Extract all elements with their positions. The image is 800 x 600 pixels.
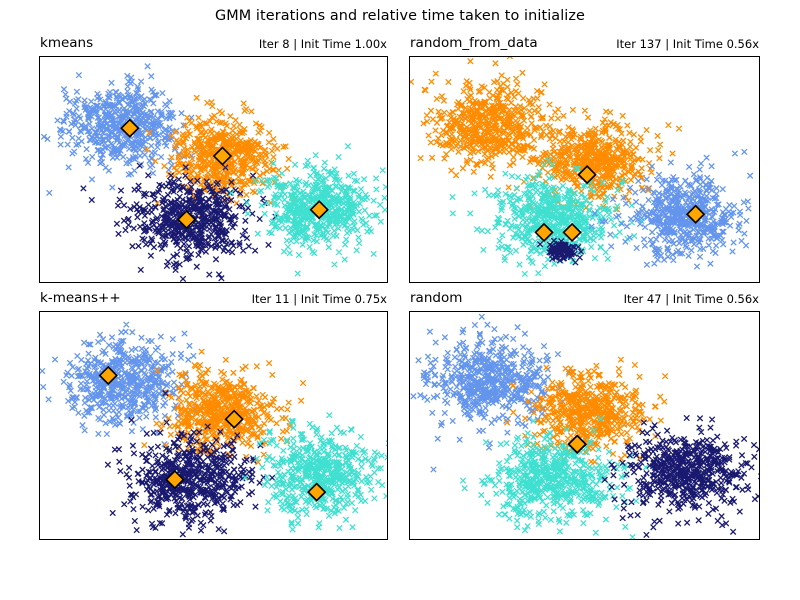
scatter-layer	[410, 57, 760, 283]
subplot-header-kmeans-plusplus: k-means++ Iter 11 | Init Time 0.75x	[39, 290, 388, 308]
subplot-title-kmeans: kmeans	[40, 35, 93, 51]
subplot-random-from-data: random_from_data Iter 137 | Init Time 0.…	[409, 56, 760, 283]
subplot-header-random-from-data: random_from_data Iter 137 | Init Time 0.…	[409, 35, 760, 53]
axes-random	[409, 311, 760, 540]
subplot-meta-kmeans-plusplus: Iter 11 | Init Time 0.75x	[252, 292, 387, 306]
axes-random-from-data	[409, 56, 760, 283]
figure-suptitle: GMM iterations and relative time taken t…	[0, 8, 800, 24]
axes-kmeans-plusplus	[39, 311, 388, 540]
subplot-title-random: random	[410, 290, 462, 306]
axes-kmeans	[39, 56, 388, 283]
scatter-layer	[410, 312, 760, 540]
subplot-random: random Iter 47 | Init Time 0.56x	[409, 311, 760, 540]
subplot-meta-random-from-data: Iter 137 | Init Time 0.56x	[616, 37, 759, 51]
scatter-layer	[40, 57, 388, 283]
subplot-kmeans: kmeans Iter 8 | Init Time 1.00x	[39, 56, 388, 283]
cluster-points-turquoise	[242, 412, 388, 532]
subplot-meta-kmeans: Iter 8 | Init Time 1.00x	[259, 37, 387, 51]
subplot-title-random-from-data: random_from_data	[410, 35, 538, 51]
subplot-kmeans-plusplus: k-means++ Iter 11 | Init Time 0.75x	[39, 311, 388, 540]
subplot-title-kmeans-plusplus: k-means++	[40, 290, 121, 306]
cluster-points-turquoise	[450, 157, 645, 283]
subplot-meta-random: Iter 47 | Init Time 0.56x	[624, 292, 759, 306]
subplot-header-random: random Iter 47 | Init Time 0.56x	[409, 290, 760, 308]
figure-canvas: GMM iterations and relative time taken t…	[0, 0, 800, 600]
scatter-layer	[40, 312, 388, 540]
subplot-header-kmeans: kmeans Iter 8 | Init Time 1.00x	[39, 35, 388, 53]
